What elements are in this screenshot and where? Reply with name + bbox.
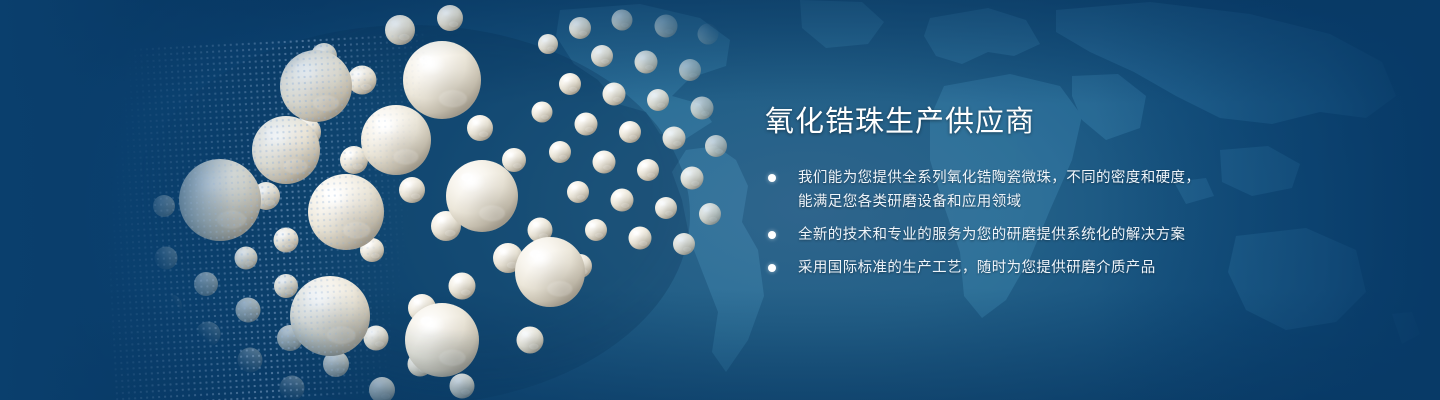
page-title: 氧化锆珠生产供应商 [765,104,1325,140]
banner-copy: 氧化锆珠生产供应商 我们能为您提供全系列氧化锆陶瓷微珠，不同的密度和硬度， 能满… [765,104,1325,280]
bullet-dot-icon [768,174,776,182]
zirconia-beads-photo [110,0,730,400]
hero-banner: 氧化锆珠生产供应商 我们能为您提供全系列氧化锆陶瓷微珠，不同的密度和硬度， 能满… [0,0,1440,400]
bullet-dot-icon [768,264,776,272]
list-item-line-1: 采用国际标准的生产工艺，随时为您提供研磨介质产品 [798,260,1156,276]
list-item-line-1: 全新的技术和专业的服务为您的研磨提供系统化的解决方案 [798,227,1185,243]
list-item: 全新的技术和专业的服务为您的研磨提供系统化的解决方案 [765,223,1325,247]
list-item-line-2: 能满足您各类研磨设备和应用领域 [798,190,1325,214]
list-item-line-1: 我们能为您提供全系列氧化锆陶瓷微珠，不同的密度和硬度， [798,170,1200,186]
list-item: 采用国际标准的生产工艺，随时为您提供研磨介质产品 [765,256,1325,280]
bullet-dot-icon [768,231,776,239]
list-item: 我们能为您提供全系列氧化锆陶瓷微珠，不同的密度和硬度， 能满足您各类研磨设备和应… [765,166,1325,214]
feature-list: 我们能为您提供全系列氧化锆陶瓷微珠，不同的密度和硬度， 能满足您各类研磨设备和应… [765,166,1325,280]
